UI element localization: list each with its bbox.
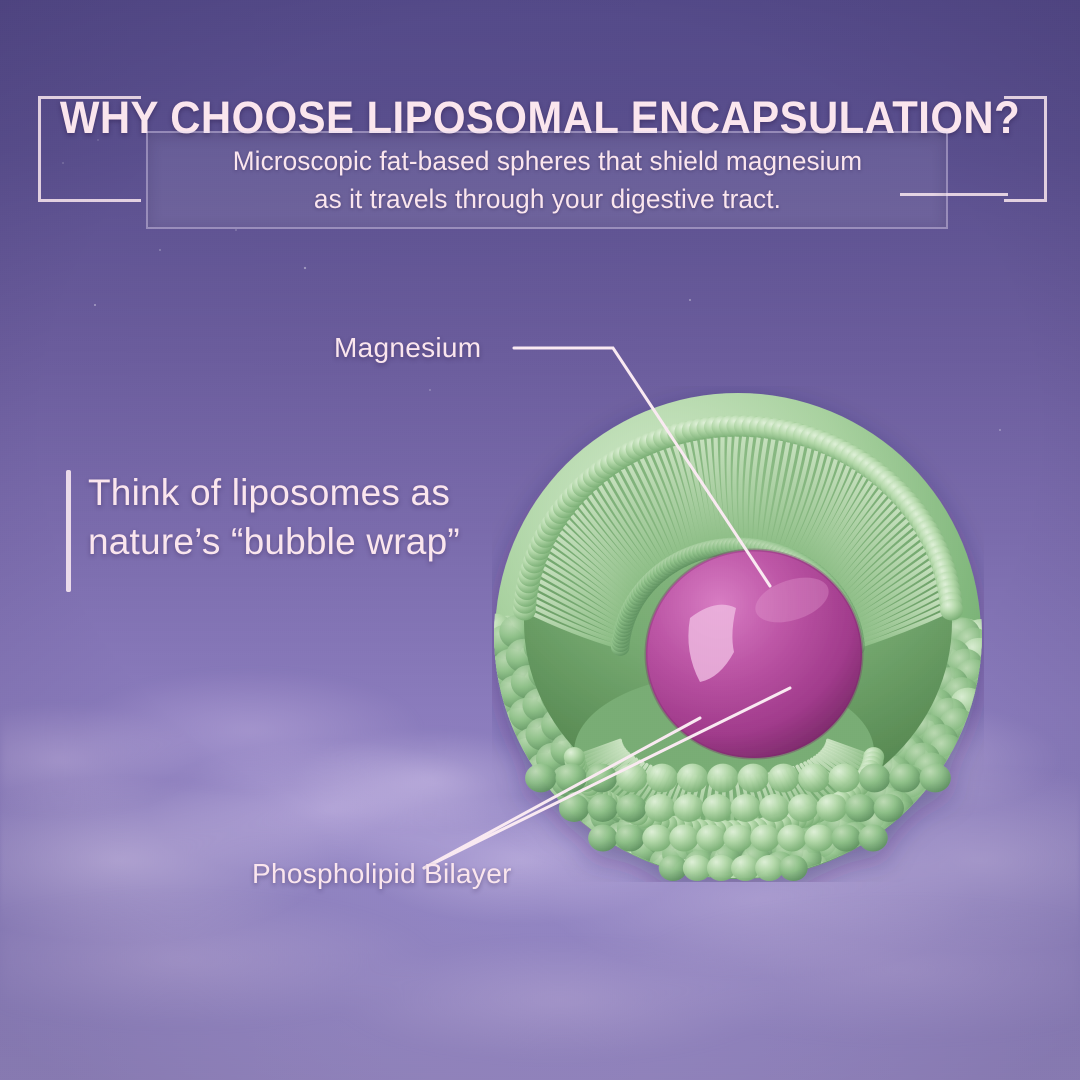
liposome-illustration	[492, 386, 984, 882]
quote-block: Think of liposomes as nature’s “bubble w…	[88, 468, 558, 566]
quote-accent-bar	[66, 470, 71, 592]
magnesium-core	[646, 550, 862, 758]
quote-text: Think of liposomes as nature’s “bubble w…	[88, 468, 558, 566]
label-phospholipid-bilayer: Phospholipid Bilayer	[252, 858, 512, 890]
infographic-canvas: WHY CHOOSE LIPOSOMAL ENCAPSULATION? Micr…	[0, 0, 1080, 1080]
subtitle-box: Microscopic fat-based spheres that shiel…	[146, 131, 948, 229]
subtitle-line-2: as it travels through your digestive tra…	[313, 184, 780, 214]
subtitle-text: Microscopic fat-based spheres that shiel…	[232, 142, 861, 219]
liposome-globe	[492, 393, 984, 882]
quote-line-1: Think of liposomes as	[88, 472, 450, 513]
quote-line-2: nature’s “bubble wrap”	[88, 521, 460, 562]
subtitle-line-1: Microscopic fat-based spheres that shiel…	[232, 146, 861, 176]
label-magnesium: Magnesium	[334, 332, 481, 364]
